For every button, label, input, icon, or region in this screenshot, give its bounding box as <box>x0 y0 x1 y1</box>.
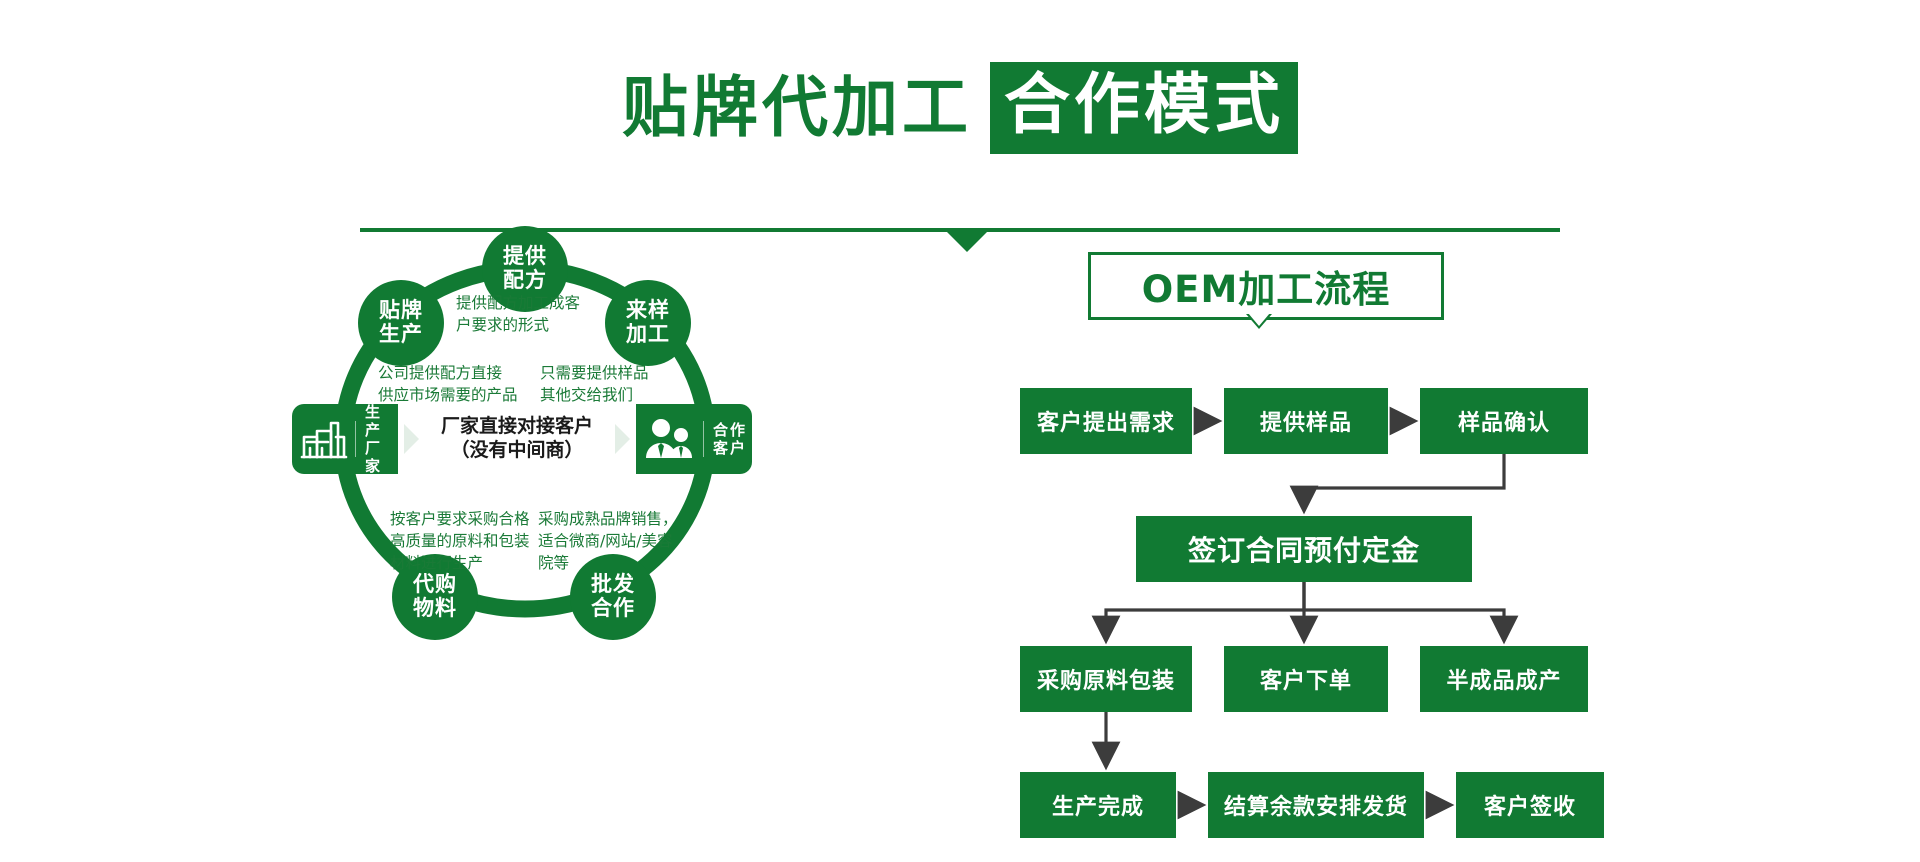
customer-label: 合作 客户 <box>713 421 747 457</box>
page-title-plain: 贴牌代加工 <box>622 75 972 141</box>
cooperation-circle-diagram: 提供 配方 贴牌 生产 来样 加工 代购 物料 批发 合作 提供配方加工成客 户… <box>300 262 860 682</box>
flow-box-sample-confirm[interactable]: 样品确认 <box>1420 388 1588 454</box>
customer-cap: 合作 客户 <box>636 404 752 474</box>
page-title-boxed: 合作模式 <box>990 62 1298 154</box>
flow-box-sign-contract-deposit[interactable]: 签订合同预付定金 <box>1136 516 1472 582</box>
circle-node-tiepai-line1: 贴牌 <box>379 299 423 323</box>
chevron-right-icon-left <box>404 424 419 454</box>
manufacturer-cap: 生产 厂家 <box>292 404 398 474</box>
circle-node-pifa-line1: 批发 <box>591 573 635 597</box>
circle-node-tiepai-line2: 生产 <box>379 323 423 347</box>
circle-node-pifa-line2: 合作 <box>591 597 635 621</box>
oem-flowchart: OEM加工流程 客户提出需求 提供样品 样品确认 签订合同预付定金 <box>1020 262 1640 682</box>
cap-divider-right <box>703 421 704 457</box>
circle-node-daigou-line2: 物料 <box>413 597 457 621</box>
flow-box-purchase-materials[interactable]: 采购原料包装 <box>1020 646 1192 712</box>
flow-box-customer-requirement[interactable]: 客户提出需求 <box>1020 388 1192 454</box>
flow-box-customer-order[interactable]: 客户下单 <box>1224 646 1388 712</box>
oem-title-notch-inner <box>1248 313 1270 326</box>
cap-divider <box>355 421 356 457</box>
circle-node-tiepai[interactable]: 贴牌 生产 <box>358 280 444 366</box>
factory-icon <box>300 417 348 461</box>
circle-desc-tigong: 提供配方加工成客 户要求的形式 <box>456 292 636 336</box>
circle-node-tigong-line2: 配方 <box>503 269 547 293</box>
circle-node-daigou-line1: 代购 <box>413 573 457 597</box>
center-statement-text: 厂家直接对接客户 （没有中间商） <box>441 415 593 463</box>
circle-desc-pifa: 采购成熟品牌销售， 适合微商/网站/美容 院等 <box>538 508 718 574</box>
page-title: 贴牌代加工 合作模式 <box>0 62 1920 154</box>
flow-box-customer-receipt[interactable]: 客户签收 <box>1456 772 1604 838</box>
manufacturer-label: 生产 厂家 <box>365 403 398 475</box>
flow-box-provide-sample[interactable]: 提供样品 <box>1224 388 1388 454</box>
flow-box-settle-and-ship[interactable]: 结算余款安排发货 <box>1208 772 1424 838</box>
divider-arrow-icon <box>947 232 987 252</box>
oem-flowchart-title: OEM加工流程 <box>1142 259 1391 313</box>
circle-desc-laiyang: 只需要提供样品 其他交给我们 <box>540 362 720 406</box>
center-statement: 厂家直接对接客户 （没有中间商） <box>398 404 636 474</box>
circle-node-tigong-line1: 提供 <box>503 245 547 269</box>
people-icon <box>642 416 696 462</box>
flow-box-semi-finished[interactable]: 半成品成产 <box>1420 646 1588 712</box>
center-relationship-bar: 生产 厂家 厂家直接对接客户 （没有中间商） 合作 客户 <box>292 404 752 474</box>
flow-box-production-complete[interactable]: 生产完成 <box>1020 772 1176 838</box>
oem-flowchart-title-box: OEM加工流程 <box>1088 252 1444 320</box>
chevron-right-icon-right <box>615 424 630 454</box>
